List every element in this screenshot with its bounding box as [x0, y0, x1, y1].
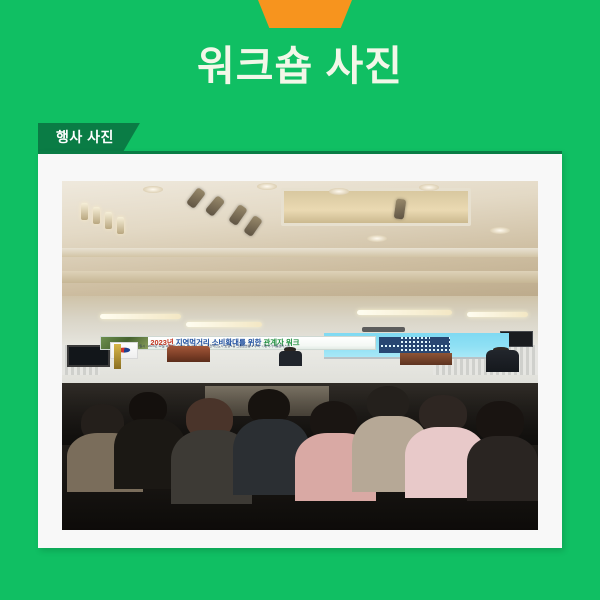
qr-code-icon [379, 337, 450, 353]
downlight [367, 235, 387, 242]
downlight [329, 188, 349, 195]
presenter-body [279, 351, 303, 366]
downlight [143, 186, 163, 193]
ceiling-beam-lower [62, 271, 538, 284]
wooden-podium [167, 346, 210, 362]
flag-pole [114, 344, 121, 369]
ceiling-spotlight [243, 214, 263, 236]
ceiling-light-panel [281, 188, 471, 226]
page-title: 워크숍 사진 [0, 42, 600, 91]
projector-icon [362, 327, 405, 332]
qr-eye [381, 337, 399, 343]
card-footer [38, 527, 562, 548]
photo-scene: 2023년 지역먹거리 소비확대를 위한 관계자 워크 ● 일시 : 2023년… [62, 181, 538, 530]
downlight [490, 227, 510, 234]
qr-eye [430, 337, 448, 343]
downlight [257, 183, 277, 190]
venue-wall: 2023년 지역먹거리 소비확대를 위한 관계자 워크 ● 일시 : 2023년… [62, 296, 538, 397]
track-lamp [117, 217, 124, 234]
wall-light-strip [357, 310, 452, 315]
attendee-head [367, 386, 410, 420]
wall-light-strip [467, 312, 529, 317]
ceiling-spotlight [185, 187, 205, 209]
ceiling [62, 181, 538, 296]
wall-light-strip [186, 322, 262, 327]
event-banner: 2023년 지역먹거리 소비확대를 위한 관계자 워크 ● 일시 : 2023년… [100, 336, 376, 350]
photo-card: 2023년 지역먹거리 소비확대를 위한 관계자 워크 ● 일시 : 2023년… [38, 151, 562, 548]
orange-trapezoid-tab [258, 0, 352, 28]
attendee-body [467, 436, 538, 500]
track-lamp [105, 212, 112, 229]
track-lamp [93, 207, 100, 224]
ceiling-spotlight [229, 204, 249, 226]
section-tab-event-photo: 행사 사진 [38, 123, 140, 151]
side-table [400, 353, 452, 365]
ceiling-spotlight [204, 195, 225, 217]
qr-eye [381, 347, 399, 353]
event-photo: 2023년 지역먹거리 소비확대를 위한 관계자 워크 ● 일시 : 2023년… [62, 181, 538, 530]
track-lamp [81, 203, 88, 220]
poster-canvas: 워크숍 사진 행사 사진 [0, 0, 600, 600]
audience-seating [62, 383, 538, 530]
ceiling-beam-upper [62, 248, 538, 257]
wall-light-strip [100, 314, 181, 319]
standing-attendee-body [486, 350, 519, 372]
